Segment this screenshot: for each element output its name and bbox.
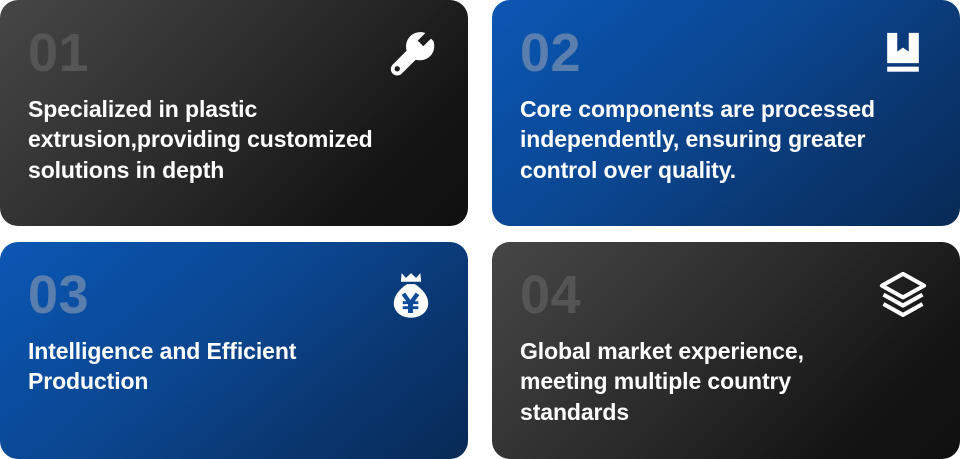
layers-stack-icon	[876, 268, 930, 322]
feature-card-grid: 01 Specialized in plastic extrusion,prov…	[0, 0, 960, 459]
card-headline-01: Specialized in plastic extrusion,providi…	[28, 94, 433, 185]
card-number-03: 03	[28, 268, 440, 322]
feature-card-03[interactable]: 03 Intelligence and Efficient Production	[0, 242, 468, 459]
money-bag-yen-icon	[384, 268, 438, 322]
card-headline-04: Global market experience, meeting multip…	[520, 336, 925, 427]
wrench-icon	[384, 26, 438, 80]
feature-card-02[interactable]: 02 Core components are processed indepen…	[492, 0, 960, 226]
feature-card-01[interactable]: 01 Specialized in plastic extrusion,prov…	[0, 0, 468, 226]
card-number-01: 01	[28, 26, 440, 80]
card-headline-03: Intelligence and Efficient Production	[28, 336, 433, 397]
card-number-02: 02	[520, 26, 932, 80]
card-headline-02: Core components are processed independen…	[520, 94, 925, 185]
book-bookmark-icon	[876, 26, 930, 80]
card-number-04: 04	[520, 268, 932, 322]
feature-card-04[interactable]: 04 Global market experience, meeting mul…	[492, 242, 960, 459]
